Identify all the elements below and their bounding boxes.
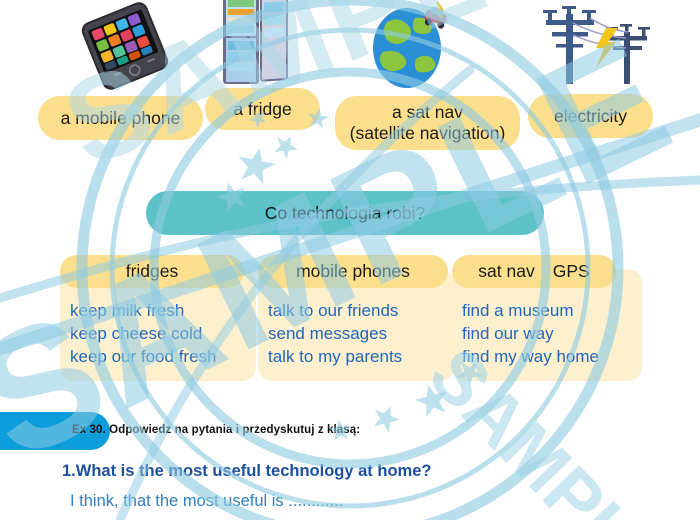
exercise-instruction: Ex 30. Odpowiedz na pytania i przedyskut… xyxy=(72,424,360,436)
worksheet-page: a mobile phone a fridge a sat nav (satel… xyxy=(0,0,700,520)
column-heading-extra: GPS xyxy=(553,261,590,282)
label-pill-electricity[interactable]: electricity xyxy=(528,94,653,138)
column-sat-nav-gps: sat nav GPS find a museum find our way f… xyxy=(452,255,642,375)
globe-satnav-icon xyxy=(365,0,455,92)
column-fridges: fridges keep milk fresh keep cheese cold… xyxy=(60,255,256,375)
column-line-list: talk to our friends send messages talk t… xyxy=(258,295,412,376)
column-heading-text: fridges xyxy=(126,261,179,282)
list-item: talk to our friends xyxy=(268,299,402,322)
banner-label: Co technologia robi? xyxy=(265,203,426,224)
banner-co-technologia-robi[interactable]: Co technologia robi? xyxy=(146,191,544,235)
column-mobile-phones: mobile phones talk to our friends send m… xyxy=(258,255,454,375)
label-pill-text: a fridge xyxy=(233,98,291,120)
electricity-pylon-icon xyxy=(538,2,658,90)
column-line-list: find a museum find our way find my way h… xyxy=(452,295,609,376)
list-item: keep cheese cold xyxy=(70,322,216,345)
mobile-phone-icon xyxy=(70,2,180,90)
column-heading-text: sat nav xyxy=(478,261,534,282)
column-heading: mobile phones xyxy=(258,255,448,288)
list-item: keep our food fresh xyxy=(70,345,216,368)
column-line-list: keep milk fresh keep cheese cold keep ou… xyxy=(60,295,226,376)
list-item: find my way home xyxy=(462,345,599,368)
label-pill-text: a mobile phone xyxy=(61,107,181,129)
label-pill-mobile-phone[interactable]: a mobile phone xyxy=(38,96,203,140)
label-pill-text: electricity xyxy=(554,105,627,127)
label-pill-fridge[interactable]: a fridge xyxy=(205,88,320,130)
list-item: find a museum xyxy=(462,299,599,322)
label-pill-text: a sat nav xyxy=(392,102,463,123)
list-item: talk to my parents xyxy=(268,345,402,368)
exercise-answer-stub: I think, that the most useful is .......… xyxy=(70,492,343,511)
fridge-icon xyxy=(215,0,295,94)
list-item: find our way xyxy=(462,322,599,345)
content-layer: a mobile phone a fridge a sat nav (satel… xyxy=(0,0,700,520)
list-item: send messages xyxy=(268,322,402,345)
column-heading: fridges xyxy=(60,255,244,288)
column-heading: sat nav GPS xyxy=(452,255,616,288)
column-heading-text: mobile phones xyxy=(296,261,410,282)
list-item: keep milk fresh xyxy=(70,299,216,322)
exercise-question-1: 1.What is the most useful technology at … xyxy=(62,462,431,481)
label-pill-subtext: (satellite navigation) xyxy=(350,123,506,144)
label-pill-sat-nav[interactable]: a sat nav (satellite navigation) xyxy=(335,96,520,150)
